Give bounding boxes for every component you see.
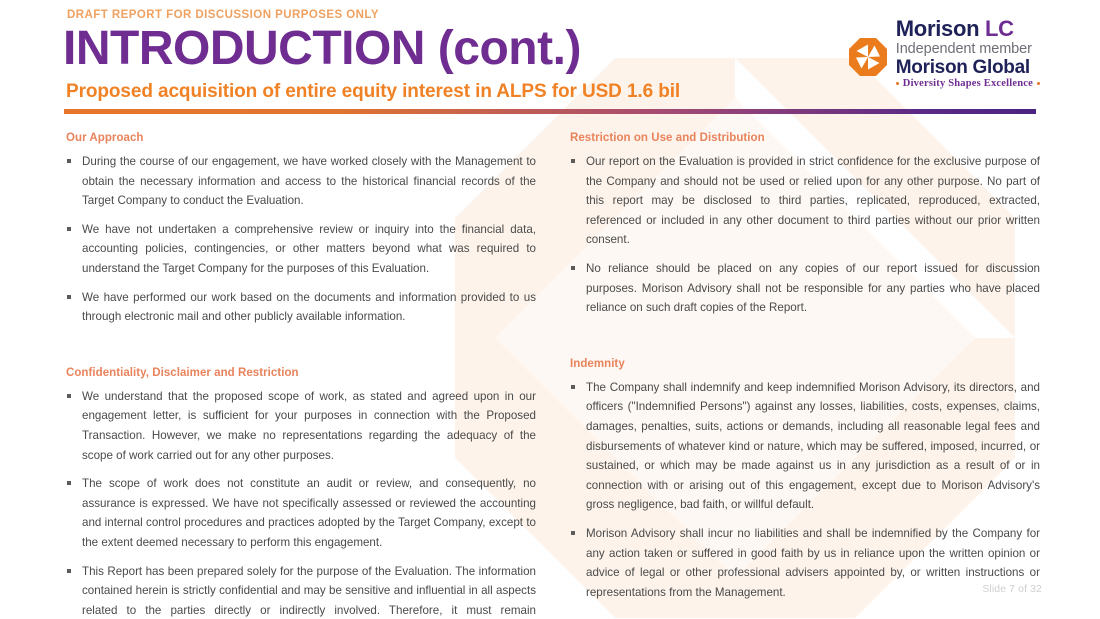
section-heading: Indemnity bbox=[570, 358, 1040, 370]
list-item: We have not undertaken a comprehensive r… bbox=[60, 220, 536, 279]
list-item: This Report has been prepared solely for… bbox=[60, 562, 536, 619]
section-restriction-on-use-and-distribution: Restriction on Use and Distribution Our … bbox=[564, 132, 1040, 318]
list-item: Our report on the Evaluation is provided… bbox=[564, 152, 1040, 250]
list-item: The scope of work does not constitute an… bbox=[60, 474, 536, 552]
section-heading: Restriction on Use and Distribution bbox=[570, 132, 1040, 144]
bullet-list: The Company shall indemnify and keep ind… bbox=[564, 378, 1040, 603]
logo-tagline: Diversity Shapes Excellence bbox=[896, 79, 1040, 90]
bullet-list: During the course of our engagement, we … bbox=[60, 152, 536, 327]
section-indemnity: Indemnity The Company shall indemnify an… bbox=[564, 358, 1040, 603]
logo-network-name: Morison Global bbox=[896, 58, 1030, 77]
bullet-list: Our report on the Evaluation is provided… bbox=[564, 152, 1040, 318]
section-confidentiality-disclaimer-restriction: Confidentiality, Disclaimer and Restrict… bbox=[60, 367, 536, 619]
morison-gem-icon bbox=[848, 37, 888, 77]
tagline-dot-left-icon bbox=[896, 82, 899, 85]
slide-number-label: Slide 7 of 32 bbox=[982, 583, 1042, 595]
slide-content: Our Approach During the course of our en… bbox=[0, 132, 1100, 619]
section-spacer bbox=[60, 345, 536, 367]
logo-member-line: Independent member bbox=[896, 42, 1032, 57]
bullet-list: We understand that the proposed scope of… bbox=[60, 387, 536, 619]
list-item: During the course of our engagement, we … bbox=[60, 152, 536, 211]
draft-report-label: DRAFT REPORT FOR DISCUSSION PURPOSES ONL… bbox=[67, 9, 379, 21]
logo-wordmark: Morison LC Independent member Morison Gl… bbox=[896, 18, 1040, 89]
section-our-approach: Our Approach During the course of our en… bbox=[60, 132, 536, 327]
logo-brand-suffix: LC bbox=[985, 16, 1014, 41]
page-subtitle: Proposed acquisition of entire equity in… bbox=[66, 80, 680, 104]
left-column: Our Approach During the course of our en… bbox=[60, 132, 536, 619]
morison-logo: Morison LC Independent member Morison Gl… bbox=[848, 18, 1040, 89]
list-item: We understand that the proposed scope of… bbox=[60, 387, 536, 465]
section-heading: Confidentiality, Disclaimer and Restrict… bbox=[66, 367, 536, 379]
header-divider-rule bbox=[64, 109, 1036, 114]
list-item: Morison Advisory shall incur no liabilit… bbox=[564, 524, 1040, 602]
logo-tagline-text: Diversity Shapes Excellence bbox=[903, 79, 1033, 90]
right-column: Restriction on Use and Distribution Our … bbox=[564, 132, 1040, 619]
section-heading: Our Approach bbox=[66, 132, 536, 144]
slide-canvas: DRAFT REPORT FOR DISCUSSION PURPOSES ONL… bbox=[0, 0, 1100, 619]
tagline-dot-right-icon bbox=[1037, 82, 1040, 85]
list-item: We have performed our work based on the … bbox=[60, 288, 536, 327]
list-item: The Company shall indemnify and keep ind… bbox=[564, 378, 1040, 515]
logo-brand-line: Morison LC bbox=[896, 18, 1014, 40]
section-spacer bbox=[564, 336, 1040, 358]
list-item: No reliance should be placed on any copi… bbox=[564, 259, 1040, 318]
page-title: INTRODUCTION (cont.) bbox=[63, 22, 581, 76]
logo-brand-name: Morison bbox=[896, 16, 979, 41]
